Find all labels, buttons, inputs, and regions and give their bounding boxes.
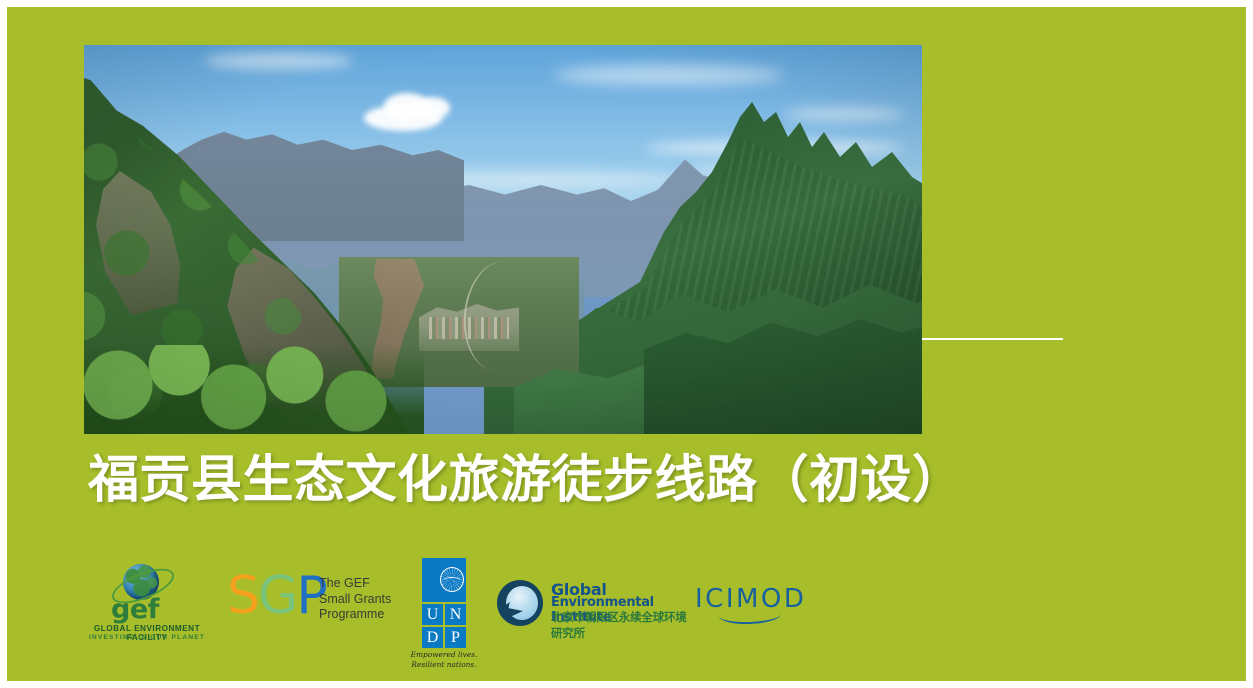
logo-undp-tagline-line2: Resilient nations.: [408, 660, 480, 670]
logo-gef-line2: INVESTING IN OUR PLANET: [77, 634, 217, 641]
logo-sgp-letter-s: S: [227, 566, 258, 626]
logo-sgp: SGP The GEF Small Grants Programme: [227, 574, 407, 636]
landscape-photo: [84, 45, 922, 434]
logo-sgp-letter-g: G: [258, 566, 296, 626]
logo-undp-letter-d: D: [422, 627, 443, 648]
globe-sail-icon: [497, 580, 543, 626]
logo-sgp-text-line2: Small Grants: [319, 592, 391, 608]
logo-undp-letter-u: U: [422, 604, 443, 625]
logo-undp-letter-p: P: [445, 627, 466, 648]
logo-sgp-text: The GEF Small Grants Programme: [319, 576, 391, 623]
photo-vignette: [84, 45, 922, 434]
slide: 福贡县生态文化旅游徒步线路（初设） gef GLOBAL ENVIRONMENT…: [0, 0, 1253, 688]
logo-undp: U N D P Empowered lives. Resilient natio…: [414, 558, 474, 666]
logo-undp-letter-n: N: [445, 604, 466, 625]
logo-undp-tagline-line1: Empowered lives.: [408, 650, 480, 660]
logo-gef-wordmark: gef: [111, 594, 159, 625]
logo-gei-line3: 北京市朝阳区永续全球环境研究所: [551, 609, 697, 641]
logo-undp-letter-grid: U N D P: [422, 604, 466, 648]
logo-sgp-letters: SGP: [227, 570, 326, 622]
logo-undp-tagline: Empowered lives. Resilient nations.: [408, 650, 480, 669]
page-title: 福贡县生态文化旅游徒步线路（初设）: [88, 455, 964, 506]
slide-background: 福贡县生态文化旅游徒步线路（初设） gef GLOBAL ENVIRONMENT…: [7, 7, 1246, 681]
un-emblem-panel: [422, 558, 466, 602]
logo-sgp-text-line1: The GEF: [319, 576, 391, 592]
accent-line: [922, 338, 1063, 340]
un-emblem-icon: [440, 567, 464, 592]
logo-strip: gef GLOBAL ENVIRONMENT FACILITY INVESTIN…: [67, 552, 877, 672]
logo-gef: gef GLOBAL ENVIRONMENT FACILITY INVESTIN…: [77, 564, 217, 646]
logo-sgp-text-line3: Programme: [319, 607, 391, 623]
wave-icon: [719, 612, 781, 625]
logo-gei: Global Environmental Institute 北京市朝阳区永续全…: [497, 580, 697, 630]
logo-icimod-wordmark: ICIMOD: [695, 584, 806, 614]
logo-icimod: ICIMOD: [695, 584, 845, 628]
